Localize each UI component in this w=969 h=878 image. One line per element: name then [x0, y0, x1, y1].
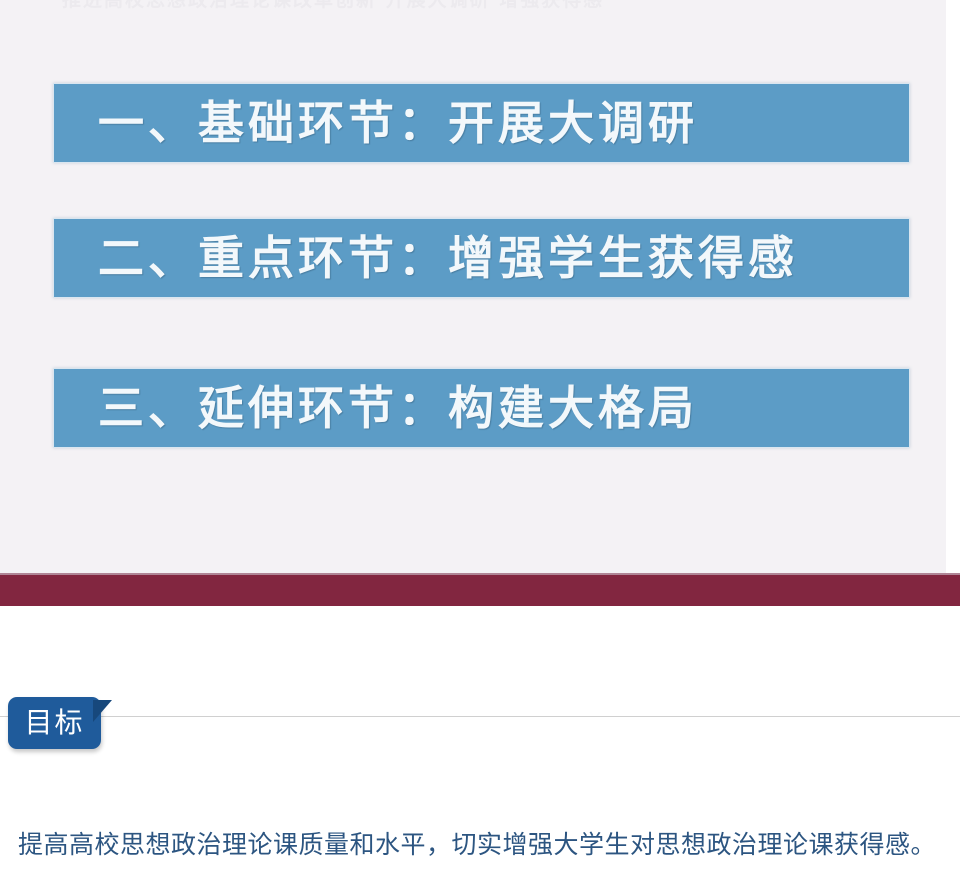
lower-content-area: 目标 提高高校思想政治理论课质量和水平，切实增强大学生对思想政治理论课获得感。 [0, 606, 969, 878]
step-bar-2-label: 二、重点环节：增强学生获得感 [98, 235, 798, 281]
section-tab-goal: 目标 [8, 697, 101, 749]
section-divider-rule [0, 716, 960, 717]
section-tab-tail [93, 700, 112, 722]
faint-top-heading: 推进高校思想政治理论课改革创新 开展大调研 增强获得感 [62, 0, 782, 11]
step-bar-2: 二、重点环节：增强学生获得感 [53, 218, 910, 298]
step-bar-1-label: 一、基础环节：开展大调研 [98, 100, 698, 146]
step-bar-3-label: 三、延伸环节：构建大格局 [98, 385, 698, 431]
slide-area-right-margin [946, 0, 969, 573]
maroon-divider-band [0, 573, 960, 608]
goal-body-text: 提高高校思想政治理论课质量和水平，切实增强大学生对思想政治理论课获得感。 [18, 828, 948, 862]
page-root: 推进高校思想政治理论课改革创新 开展大调研 增强获得感 一、基础环节：开展大调研… [0, 0, 969, 878]
step-bar-3: 三、延伸环节：构建大格局 [53, 368, 910, 448]
step-bar-1: 一、基础环节：开展大调研 [53, 83, 910, 163]
slide-area: 推进高校思想政治理论课改革创新 开展大调研 增强获得感 一、基础环节：开展大调研… [0, 0, 946, 573]
section-tab-goal-label: 目标 [24, 709, 84, 737]
